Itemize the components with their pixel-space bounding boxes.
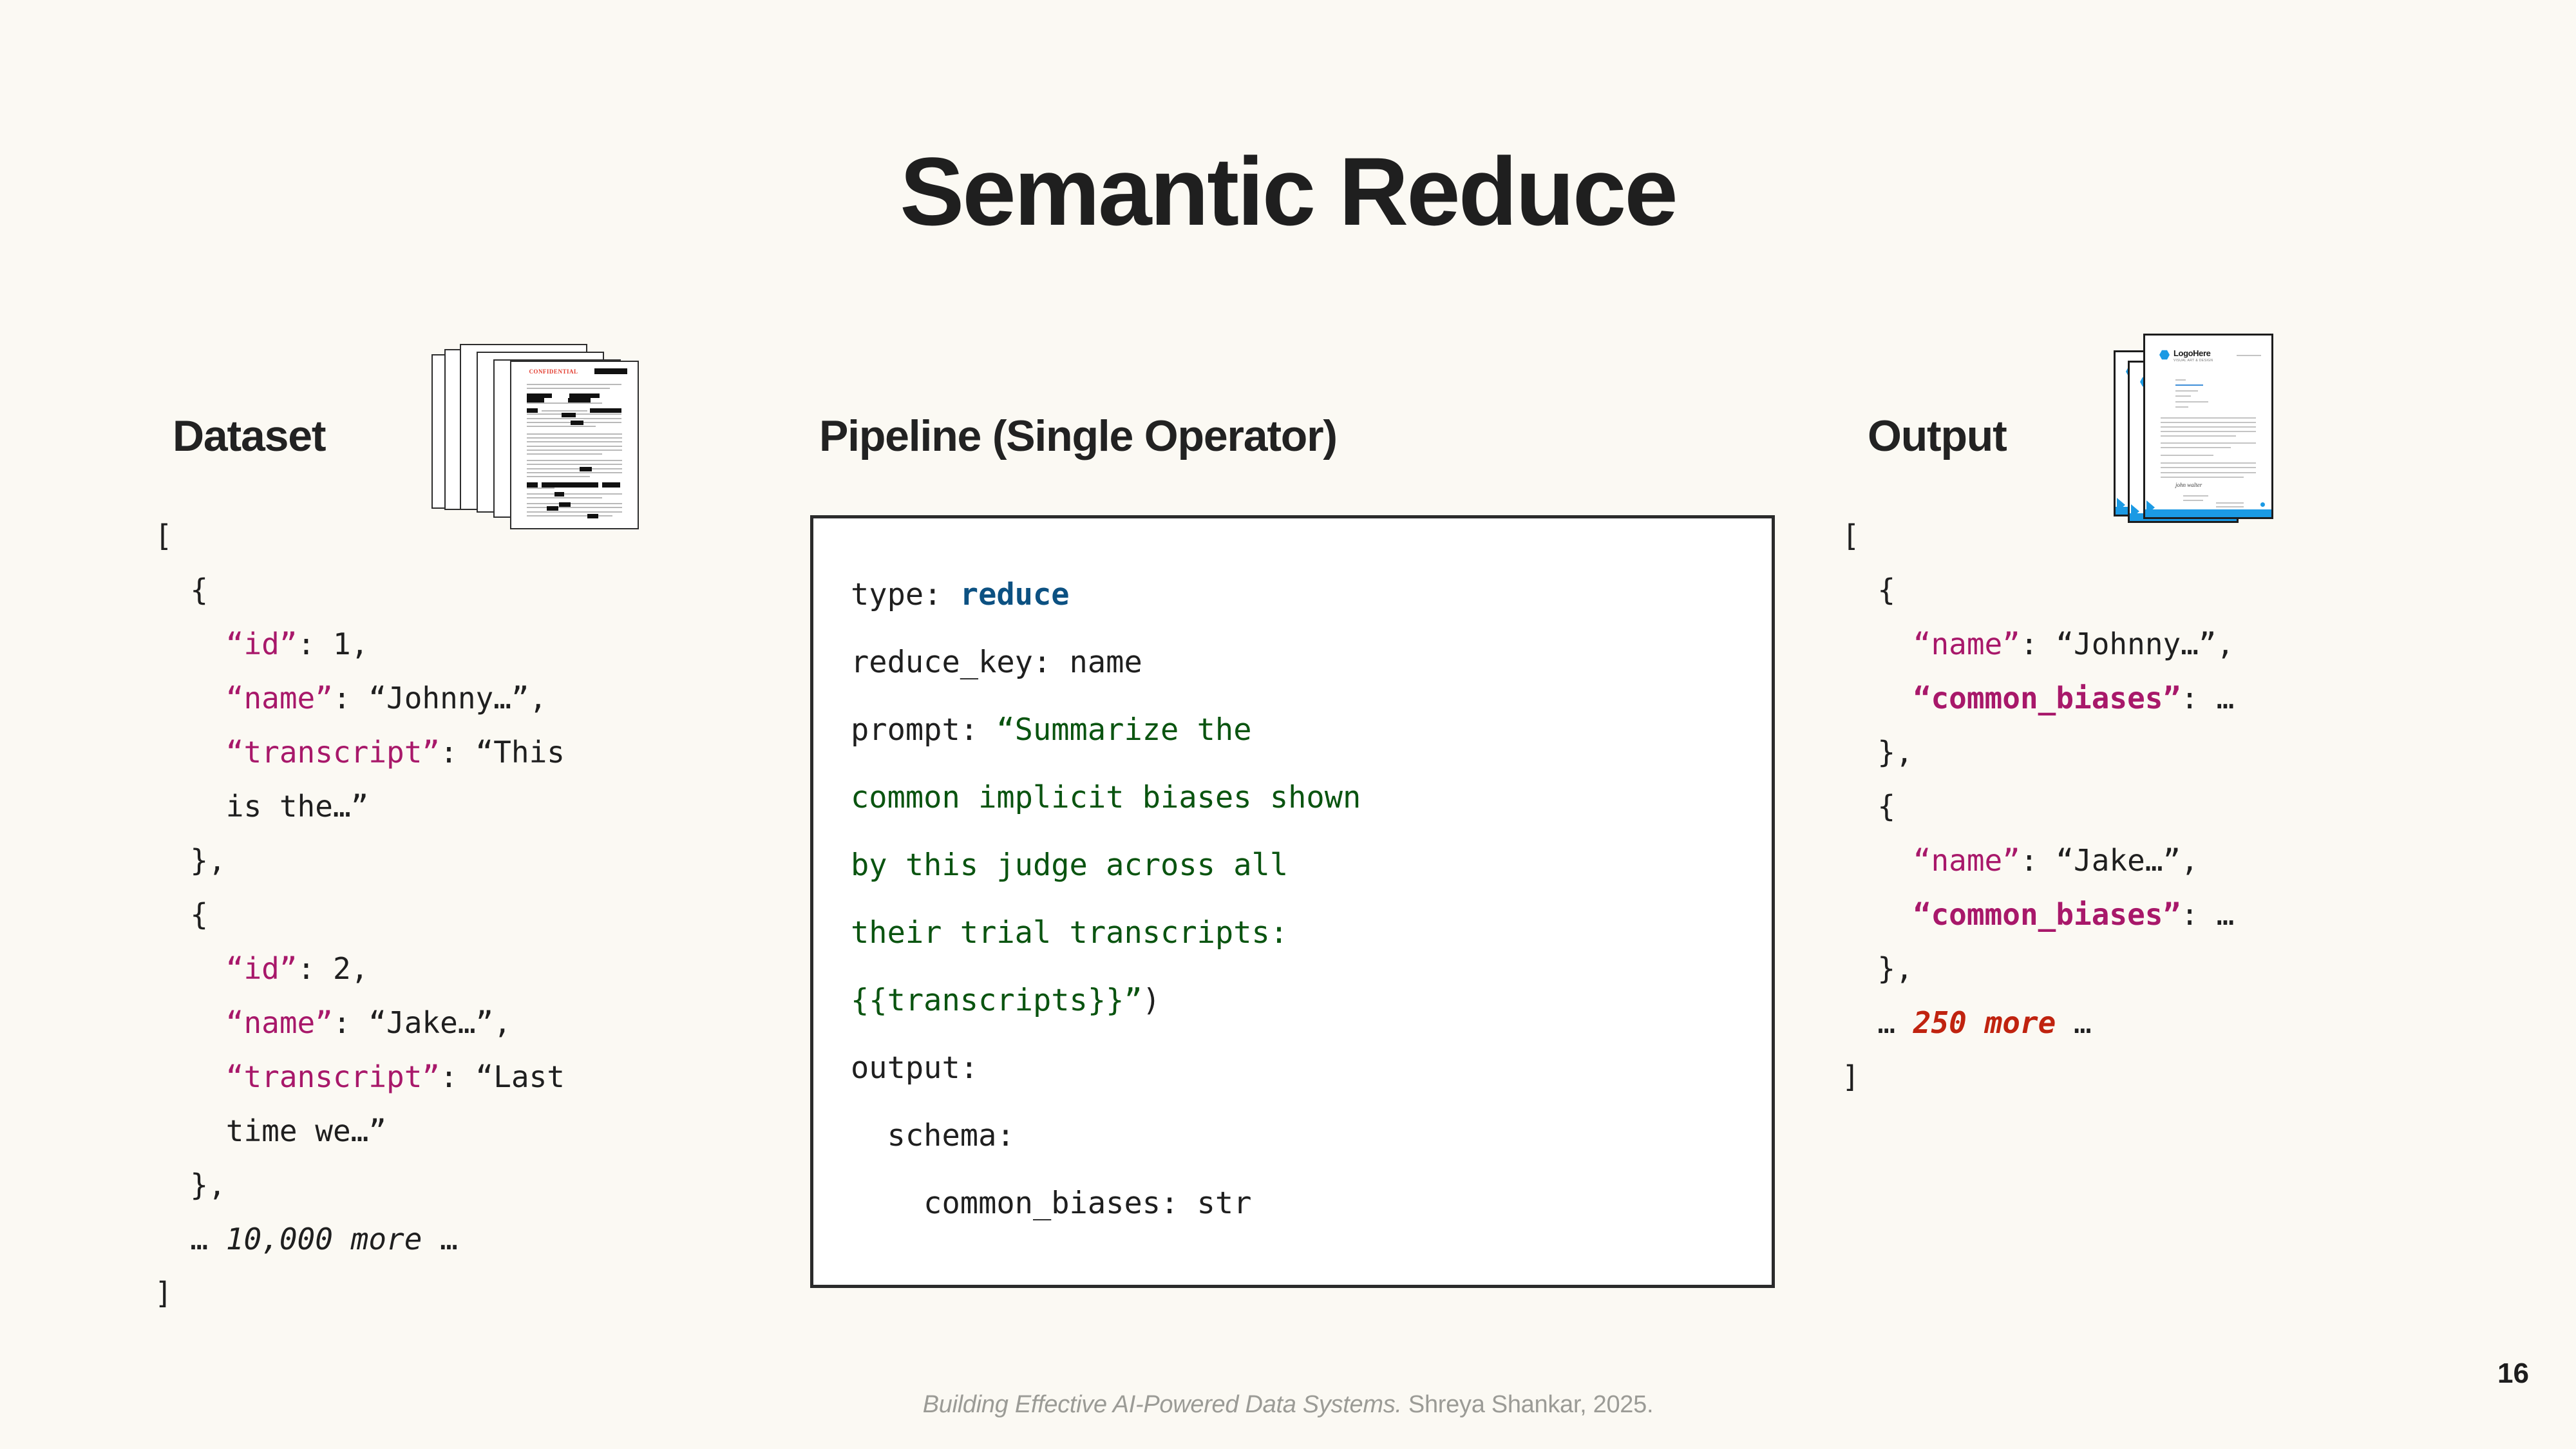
pipeline-code-text: type: reduce reduce_key: name prompt: “S… bbox=[851, 561, 1752, 1237]
redaction-bar bbox=[527, 482, 538, 488]
redaction-bar bbox=[571, 421, 583, 425]
dataset-more-count: 10,000 more bbox=[226, 1222, 422, 1256]
page-title: Semantic Reduce bbox=[0, 143, 2576, 240]
json-bracket-open: [ bbox=[155, 518, 173, 553]
json-brace-open: { bbox=[155, 897, 208, 932]
json-bracket-close: ] bbox=[1842, 1059, 1860, 1094]
dataset-json-listing: [ { “id”: 1, “name”: “Johnny…”, “transcr… bbox=[155, 509, 734, 1320]
json-brace-close: }, bbox=[155, 1168, 226, 1202]
redaction-bar bbox=[559, 502, 571, 507]
json-key-id: “id” bbox=[226, 627, 298, 661]
json-bracket-close: ] bbox=[155, 1276, 173, 1311]
redaction-bar bbox=[580, 467, 592, 471]
page-number: 16 bbox=[2497, 1358, 2529, 1390]
json-key-name: “name” bbox=[226, 1005, 333, 1040]
output-more-count: 250 more bbox=[1913, 1005, 2056, 1040]
pipeline-code-block: type: reduce reduce_key: name prompt: “S… bbox=[810, 515, 1775, 1288]
json-key-name: “name” bbox=[1913, 843, 2020, 878]
redaction-bar bbox=[562, 413, 576, 417]
code-key-type: type: bbox=[851, 577, 960, 612]
json-key-name: “name” bbox=[226, 681, 333, 715]
code-key-prompt: prompt: bbox=[851, 712, 996, 748]
redaction-bar bbox=[602, 482, 620, 488]
code-line-schema-field: common_biases: str bbox=[851, 1186, 1252, 1221]
json-brace-close: }, bbox=[1842, 735, 1913, 770]
letterhead-sheet-front: LogoHere VISUAL ART & DESIGN john walter bbox=[2143, 334, 2273, 519]
redaction-bar bbox=[554, 492, 565, 497]
json-brace-open: { bbox=[155, 573, 208, 607]
code-line-reduce-key: reduce_key: name bbox=[851, 645, 1142, 680]
json-key-common-biases: “common_biases” bbox=[1913, 897, 2181, 932]
signature-mark: john walter bbox=[2175, 482, 2202, 488]
operator-type-value: reduce bbox=[960, 577, 1070, 612]
json-key-common-biases: “common_biases” bbox=[1913, 681, 2181, 715]
json-brace-open: { bbox=[1842, 573, 1895, 607]
json-brace-close: }, bbox=[1842, 951, 1913, 986]
letterhead-logo-text: LogoHere bbox=[2173, 348, 2210, 358]
footer-citation: Building Effective AI-Powered Data Syste… bbox=[0, 1391, 2576, 1419]
code-line-output: output: bbox=[851, 1050, 978, 1086]
json-key-id: “id” bbox=[226, 951, 298, 986]
output-document-stack-icon: LogoHere VISUAL ART & DESIGN john walter bbox=[2114, 334, 2287, 533]
output-column-header: Output bbox=[1868, 411, 2007, 461]
json-bracket-open: [ bbox=[1842, 518, 1860, 553]
json-key-name: “name” bbox=[1913, 627, 2020, 661]
footer-attribution: Shreya Shankar, 2025. bbox=[1402, 1391, 1654, 1418]
pipeline-column-header: Pipeline (Single Operator) bbox=[819, 411, 1337, 461]
redaction-bar bbox=[527, 398, 544, 402]
json-brace-open: { bbox=[1842, 789, 1895, 824]
dataset-column-header: Dataset bbox=[173, 411, 325, 461]
letterhead-logo-subtitle: VISUAL ART & DESIGN bbox=[2173, 359, 2213, 363]
redaction-bar bbox=[542, 482, 598, 488]
redaction-bar bbox=[568, 398, 591, 402]
slide-canvas: Semantic Reduce Dataset CONFIDENTIAL CON… bbox=[0, 0, 2576, 1449]
footer-source-title: Building Effective AI-Powered Data Syste… bbox=[923, 1391, 1402, 1418]
document-sheet-front: CONFIDENTIAL bbox=[510, 361, 639, 529]
json-key-transcript: “transcript” bbox=[226, 735, 440, 770]
redaction-bar bbox=[527, 408, 538, 413]
output-json-listing: [ { “name”: “Johnny…”, “common_biases”: … bbox=[1842, 509, 2524, 1104]
prompt-string-value: “Summarize the common implicit biases sh… bbox=[851, 712, 1361, 1018]
dataset-document-stack-icon: CONFIDENTIAL CONFIDENTIAL CONFIDENTIAL C… bbox=[431, 330, 650, 536]
redaction-bar bbox=[590, 408, 621, 413]
code-line-schema: schema: bbox=[851, 1118, 1015, 1153]
redaction-bar bbox=[594, 368, 627, 374]
json-key-transcript: “transcript” bbox=[226, 1059, 440, 1094]
json-brace-close: }, bbox=[155, 843, 226, 878]
confidential-stamp: CONFIDENTIAL bbox=[529, 368, 578, 375]
